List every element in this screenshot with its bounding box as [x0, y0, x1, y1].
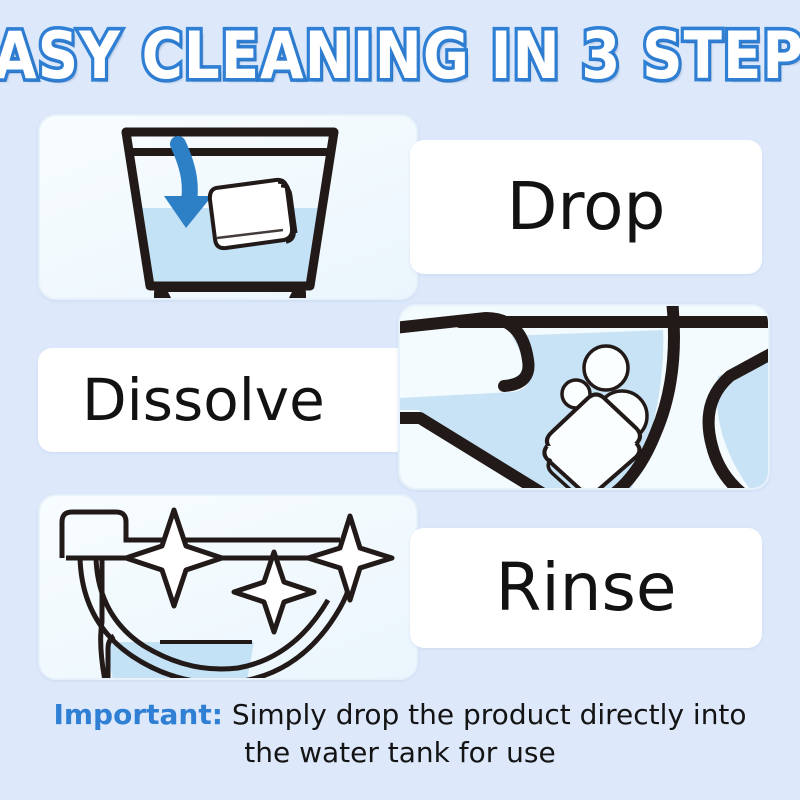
toilet-cistern-outline: [62, 512, 340, 540]
footer-important-label: Important:: [53, 698, 222, 731]
dissolving-tablet-illustration: [400, 306, 770, 490]
step-2-label-card: Dissolve: [38, 348, 410, 452]
step-3-label-card: Rinse: [410, 528, 762, 648]
cleaning-tablet: [210, 180, 296, 248]
footer-note: Important: Simply drop the product direc…: [0, 696, 800, 771]
step-1-label: Drop: [507, 174, 666, 240]
clean-toilet-illustration: [40, 496, 418, 680]
step-1-illustration-card: [38, 114, 418, 300]
step-3-label: Rinse: [495, 555, 676, 621]
tank-foot: [158, 288, 302, 300]
sparkle-middle: [234, 552, 314, 632]
step-2-illustration-card: [398, 304, 770, 490]
page-title: EASY CLEANING IN 3 STEPS: [0, 24, 800, 88]
sparkle-top-left: [126, 510, 222, 606]
step-2-label: Dissolve: [82, 371, 325, 429]
bubble-large-top: [584, 346, 628, 390]
toilet-pedestal: [101, 558, 106, 680]
page-title-text: EASY CLEANING IN 3 STEPS: [0, 24, 800, 89]
sparkle-top-right: [308, 516, 392, 600]
sparkles: [126, 510, 392, 632]
footer-note-text: Simply drop the product directly into th…: [223, 698, 747, 769]
step-3-illustration-card: [38, 494, 418, 680]
toilet-tank-illustration: [40, 116, 418, 300]
step-1-label-card: Drop: [410, 140, 762, 274]
